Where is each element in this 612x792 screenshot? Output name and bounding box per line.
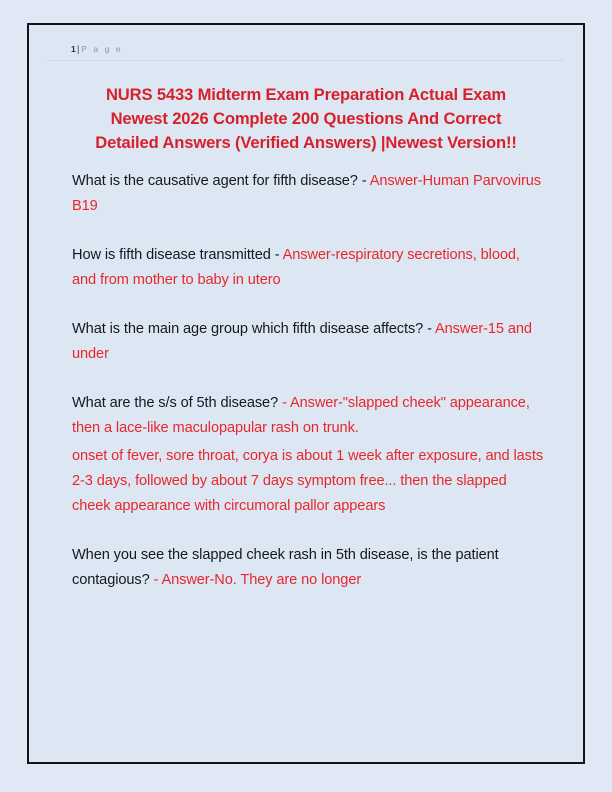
header-page-number: 1 — [71, 44, 76, 54]
answer-continuation-text: onset of fever, sore throat, corya is ab… — [72, 448, 543, 514]
qa-block: What are the s/s of 5th disease? - Answe… — [72, 391, 544, 441]
document-title: NURS 5433 Midterm Exam Preparation Actua… — [61, 83, 551, 155]
document-frame: 1|P a g e NURS 5433 Midterm Exam Prepara… — [27, 23, 585, 764]
question-text: What is the main age group which fifth d… — [72, 321, 435, 337]
title-line-2: Newest 2026 Complete 200 Questions And C… — [61, 107, 551, 131]
answer-text: - Answer-No. They are no longer — [150, 572, 362, 588]
title-line-3: Detailed Answers (Verified Answers) |New… — [61, 131, 551, 155]
document-inner: 1|P a g e NURS 5433 Midterm Exam Prepara… — [29, 25, 583, 762]
qa-block: How is fifth disease transmitted - Answe… — [72, 243, 544, 293]
page-canvas: 1|P a g e NURS 5433 Midterm Exam Prepara… — [0, 0, 612, 792]
question-text: What is the causative agent for fifth di… — [72, 173, 370, 189]
page-header: 1|P a g e — [47, 35, 565, 61]
answer-continuation-block: onset of fever, sore throat, corya is ab… — [72, 444, 544, 519]
header-page-label: P a g e — [81, 44, 122, 54]
question-text: How is fifth disease transmitted - — [72, 247, 283, 263]
qa-body: What is the causative agent for fifth di… — [72, 169, 544, 593]
question-text: What are the s/s of 5th disease? — [72, 395, 278, 411]
qa-block: What is the causative agent for fifth di… — [72, 169, 544, 219]
qa-block: When you see the slapped cheek rash in 5… — [72, 543, 544, 593]
title-line-1: NURS 5433 Midterm Exam Preparation Actua… — [61, 83, 551, 107]
header-separator: | — [77, 44, 79, 54]
qa-block: What is the main age group which fifth d… — [72, 317, 544, 367]
